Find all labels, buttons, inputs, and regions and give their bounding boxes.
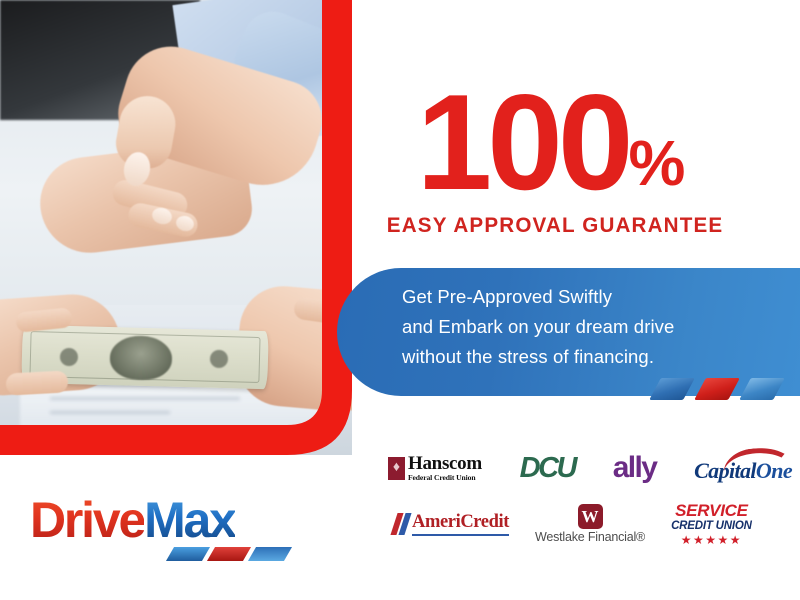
lender-logo-hanscom: ♦ Hanscom Federal Credit Union [388,454,482,482]
drivemax-drive-text: Drive [30,492,144,548]
headline-subtitle: EASY APPROVAL GUARANTEE [387,213,713,238]
lender-logo-americredit: AmeriCredit [394,512,509,536]
service-cu-line-1: SERVICE [675,502,748,519]
ally-name: ally [613,451,657,485]
lender-logo-service-credit-union: SERVICE CREDIT UNION ★★★★★ [671,502,752,547]
callout-line-2: and Embark on your dream drive [402,312,674,342]
americredit-name: AmeriCredit [412,512,509,533]
drivemax-accent-parallelograms [170,547,300,563]
accent-parallelograms [655,378,785,404]
service-cu-line-2: CREDIT UNION [671,521,752,533]
drivemax-parallelogram-red [207,547,251,561]
hanscom-emblem-icon: ♦ [388,457,405,480]
percent-sign: % [629,127,684,199]
callout-text: Get Pre-Approved Swiftly and Embark on y… [402,282,674,372]
americredit-slashes-icon [394,513,408,535]
westlake-w-icon: W [578,504,603,529]
westlake-name: Westlake Financial® [535,530,645,544]
lender-row-top: ♦ Hanscom Federal Credit Union DCU ally … [388,443,792,493]
americredit-underline [412,534,509,536]
lender-logo-dcu: DCU [520,452,575,485]
promotional-banner: 100% EASY APPROVAL GUARANTEE Get Pre-App… [0,0,800,600]
lender-logo-grid: ♦ Hanscom Federal Credit Union DCU ally … [388,443,792,553]
hanscom-name: Hanscom [408,454,482,473]
headline-percent-number: 100% [380,78,720,207]
lender-row-bottom: AmeriCredit W Westlake Financial® SERVIC… [388,499,792,549]
lender-logo-westlake: W Westlake Financial® [535,504,645,544]
drivemax-parallelogram-blue-1 [166,547,210,561]
drivemax-logo: DriveMax [30,495,300,565]
accent-parallelogram-red [694,378,740,400]
headline-number: 100 [417,66,629,218]
callout-box: Get Pre-Approved Swiftly and Embark on y… [337,268,800,396]
accent-parallelogram-blue-1 [649,378,695,400]
callout-line-3: without the stress of financing. [402,342,674,372]
hanscom-subtitle: Federal Credit Union [408,474,482,482]
dcu-name: DCU [520,452,575,485]
callout-line-1: Get Pre-Approved Swiftly [402,282,674,312]
accent-parallelogram-blue-2 [739,378,785,400]
service-cu-stars-icon: ★★★★★ [681,534,742,546]
hero-photo [0,0,352,455]
headline-block: 100% EASY APPROVAL GUARANTEE [380,78,720,238]
drivemax-parallelogram-blue-2 [248,547,292,561]
lender-logo-capital-one: CapitalOne [694,453,792,484]
lender-logo-ally: ally [613,451,657,485]
drivemax-max-text: Max [144,492,235,548]
